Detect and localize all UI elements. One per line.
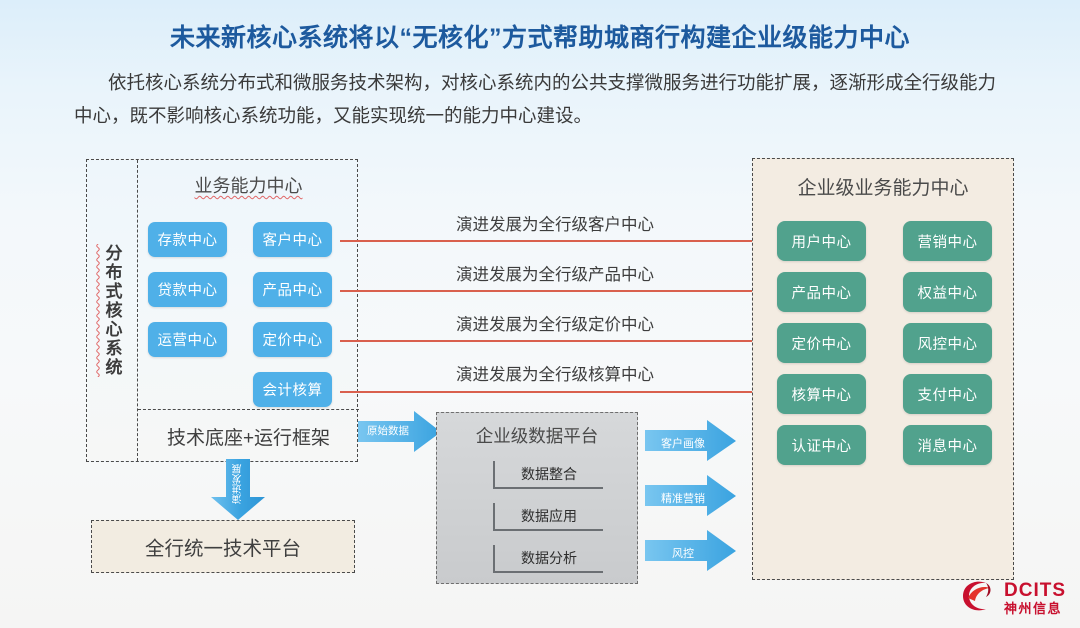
enterprise-capability-center-panel: 企业级业务能力中心 用户中心 产品中心 定价中心 核算中心 认证中心 营销中心 …: [752, 158, 1014, 580]
evolution-arrow-product: [340, 290, 770, 292]
ent-box-risk[interactable]: 风控中心: [903, 323, 992, 363]
evolution-arrow-pricing: [340, 340, 770, 342]
data-platform-item-analysis[interactable]: 数据分析: [493, 545, 603, 573]
business-capability-center-title: 业务能力中心: [138, 172, 359, 198]
ent-box-auth[interactable]: 认证中心: [777, 425, 866, 465]
ent-box-payment[interactable]: 支付中心: [903, 374, 992, 414]
outcome-arrow-risk-control-icon: [645, 530, 737, 572]
unified-tech-platform-box[interactable]: 全行统一技术平台: [91, 520, 355, 573]
capability-box-customer[interactable]: 客户中心: [253, 222, 332, 257]
ent-box-pricing[interactable]: 定价中心: [777, 323, 866, 363]
capability-box-accounting[interactable]: 会计核算: [253, 372, 332, 407]
outcome-arrow-precision-marketing-icon: [645, 475, 737, 517]
evolution-label-accounting: 演进发展为全行级核算中心: [340, 361, 770, 385]
data-platform-item-integration[interactable]: 数据整合: [493, 461, 603, 489]
logo-text-en: DCITS: [1004, 581, 1066, 601]
ent-box-message[interactable]: 消息中心: [903, 425, 992, 465]
page-title: 未来新核心系统将以“无核化”方式帮助城商行构建企业级能力中心: [0, 18, 1080, 54]
capability-box-operation[interactable]: 运营中心: [148, 322, 227, 357]
intro-paragraph: 依托核心系统分布式和微服务技术架构，对核心系统内的公共支撑微服务进行功能扩展，逐…: [74, 66, 1014, 132]
ent-box-user[interactable]: 用户中心: [777, 221, 866, 261]
enterprise-capability-center-title: 企业级业务能力中心: [753, 173, 1013, 200]
data-platform-item-application[interactable]: 数据应用: [493, 503, 603, 531]
core-system-side-label: 分布式核心系统: [87, 160, 138, 461]
evolution-label-product: 演进发展为全行级产品中心: [340, 261, 770, 285]
logo-text-block: DCITS 神州信息: [1004, 581, 1066, 616]
ent-box-marketing[interactable]: 营销中心: [903, 221, 992, 261]
core-system-panel: 分布式核心系统 业务能力中心 存款中心 贷款中心 运营中心 客户中心 产品中心 …: [86, 159, 358, 462]
outcome-arrow-customer-profile-icon: [645, 420, 737, 462]
evolution-arrow-customer: [340, 240, 770, 242]
enterprise-data-platform-title: 企业级数据平台: [437, 423, 637, 448]
logo-text-cn: 神州信息: [1004, 601, 1066, 616]
tech-base-label: 技术底座+运行框架: [138, 410, 359, 463]
business-capability-center: 业务能力中心 存款中心 贷款中心 运营中心 客户中心 产品中心 定价中心 会计核…: [138, 160, 359, 410]
capability-box-product[interactable]: 产品中心: [253, 272, 332, 307]
evolution-arrow-accounting: [340, 391, 770, 393]
core-system-side-label-text: 分布式核心系统: [100, 244, 125, 377]
raw-data-arrow-icon: [358, 411, 442, 453]
enterprise-data-platform-panel: 企业级数据平台 数据整合 数据应用 数据分析: [436, 412, 638, 584]
capability-box-pricing[interactable]: 定价中心: [253, 322, 332, 357]
ent-box-product[interactable]: 产品中心: [777, 272, 866, 312]
evolution-label-customer: 演进发展为全行级客户中心: [340, 211, 770, 235]
evolution-label-pricing: 演进发展为全行级定价中心: [340, 311, 770, 335]
ent-box-rights[interactable]: 权益中心: [903, 272, 992, 312]
capability-box-deposit[interactable]: 存款中心: [148, 222, 227, 257]
evolution-down-arrow-icon: [207, 459, 269, 521]
capability-box-loan[interactable]: 贷款中心: [148, 272, 227, 307]
ent-box-accounting[interactable]: 核算中心: [777, 374, 866, 414]
